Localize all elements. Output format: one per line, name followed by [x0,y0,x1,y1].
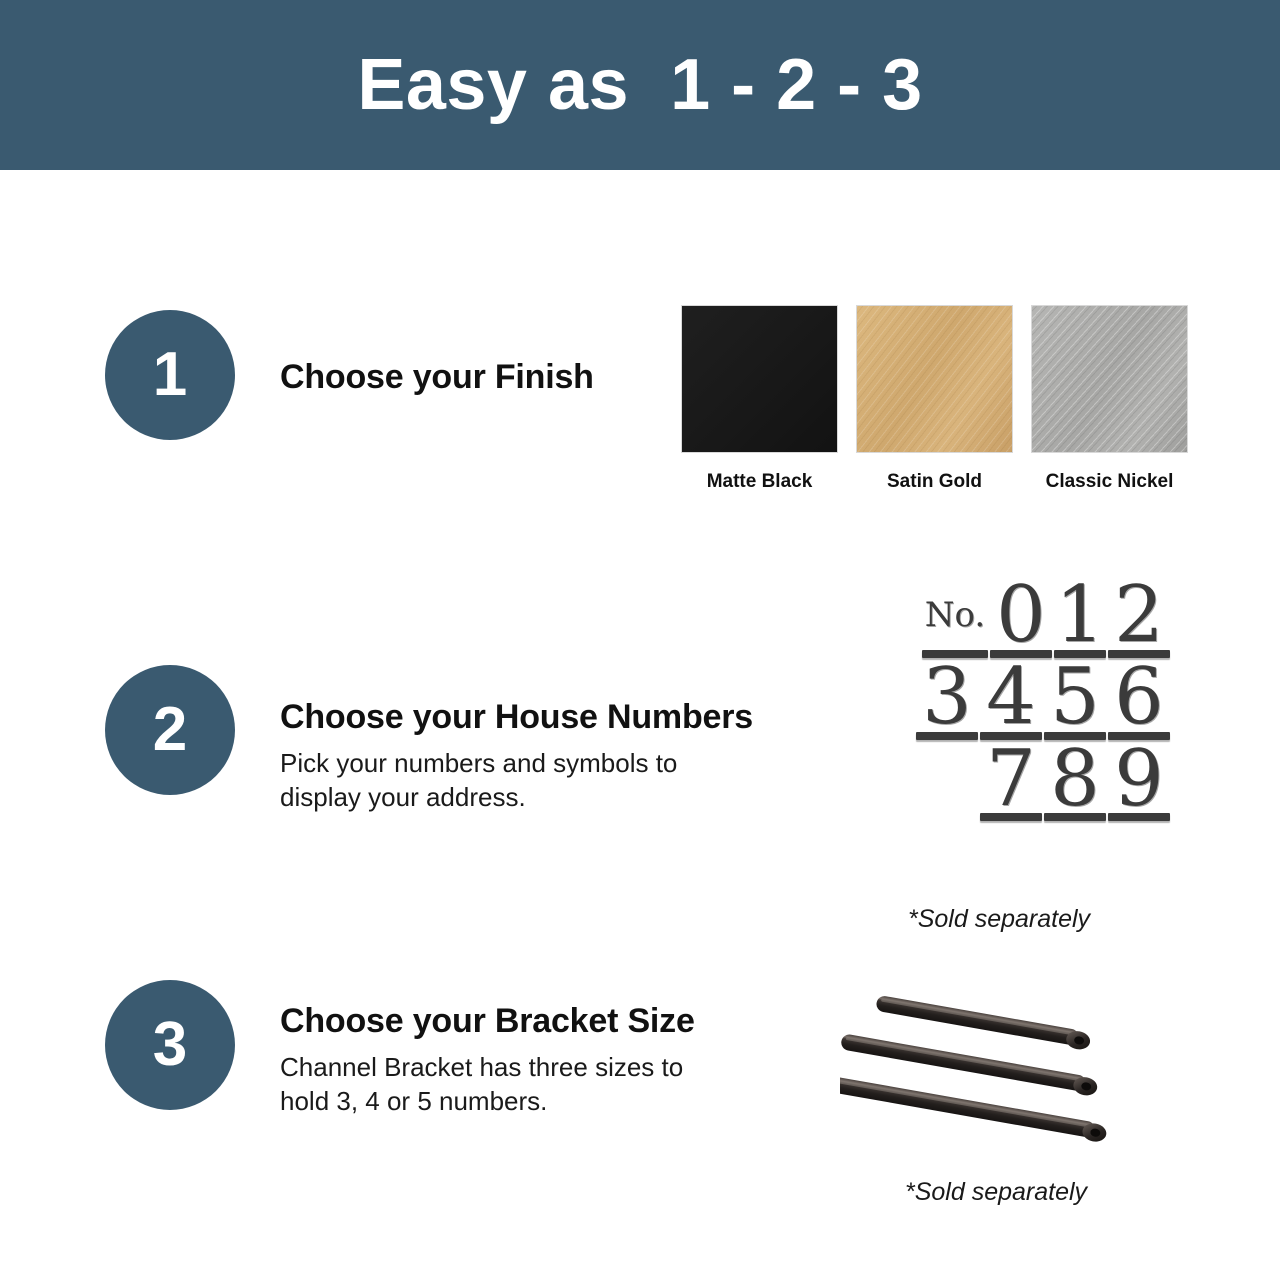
classic-nickel-swatch[interactable] [1031,305,1188,453]
step-2-row: 2 Choose your House Numbers Pick your nu… [0,620,1280,950]
step-1-badge: 1 [105,310,235,440]
number-tile-5: 5 [1044,662,1106,740]
step-2-description-line-2: display your address. [280,781,753,815]
channel-bracket-artwork [840,980,1190,1160]
number-tile-9: 9 [1108,744,1170,822]
number-tile-0: 0 [990,580,1052,658]
step-2-text-block: Choose your House Numbers Pick your numb… [280,698,753,815]
step-1-title: Choose your Finish [280,358,594,397]
finish-option-matte-black[interactable]: Matte Black [681,305,838,493]
number-tile-8: 8 [1044,744,1106,822]
step-1-text-block: Choose your Finish [280,358,594,397]
step-1-row: 1 Choose your Finish Matte Black Satin G… [0,300,1280,500]
step-2-badge: 2 [105,665,235,795]
number-glyph: 0 [990,580,1052,652]
number-glyph: 4 [980,662,1042,734]
number-glyph: 2 [1108,580,1170,652]
step-2-description: Pick your numbers and symbols to display… [280,747,753,815]
satin-gold-swatch[interactable] [856,305,1013,453]
number-glyph: No. [922,580,988,651]
step-3-text-block: Choose your Bracket Size Channel Bracket… [280,1002,695,1119]
step-3-title: Choose your Bracket Size [280,1002,695,1041]
matte-black-swatch[interactable] [681,305,838,453]
infographic-page: Easy as 1 - 2 - 3 1 Choose your Finish M… [0,0,1280,1280]
finish-swatch-group: Matte Black Satin Gold Classic Nickel [681,305,1188,493]
finish-option-classic-nickel[interactable]: Classic Nickel [1031,305,1188,493]
step-3-description-line-2: hold 3, 4 or 5 numbers. [280,1085,695,1119]
matte-black-label: Matte Black [707,471,813,493]
number-glyph: 9 [1108,744,1170,816]
step-2-description-line-1: Pick your numbers and symbols to [280,747,753,781]
number-glyph: 5 [1044,662,1106,734]
number-tile-6: 6 [1108,662,1170,740]
satin-gold-label: Satin Gold [887,471,982,493]
number-tile-4: 4 [980,662,1042,740]
number-tile-2: 2 [1108,580,1170,658]
number-glyph: 7 [980,744,1042,816]
bracket-illustration [840,980,1190,1160]
step-3-footnote: *Sold separately [905,1178,1087,1207]
house-numbers-row-3: 7 8 9 [900,744,1170,822]
number-tile-1: 1 [1054,580,1106,658]
step-3-description: Channel Bracket has three sizes to hold … [280,1051,695,1119]
step-3-description-line-1: Channel Bracket has three sizes to [280,1051,695,1085]
page-title: Easy as 1 - 2 - 3 [357,49,922,121]
finish-option-satin-gold[interactable]: Satin Gold [856,305,1013,493]
number-glyph: 3 [916,662,978,734]
house-numbers-row-2: 3 4 5 6 [900,662,1170,740]
step-3-row: 3 Choose your Bracket Size Channel Brack… [0,960,1280,1230]
step-3-badge: 3 [105,980,235,1110]
number-glyph: 1 [1054,580,1106,652]
number-tile-3: 3 [916,662,978,740]
house-numbers-row-1: No. 0 1 2 [900,580,1170,658]
header-banner: Easy as 1 - 2 - 3 [0,0,1280,170]
step-2-title: Choose your House Numbers [280,698,753,737]
classic-nickel-label: Classic Nickel [1046,471,1174,493]
bracket-short [875,995,1092,1051]
step-2-footnote: *Sold separately [908,905,1090,934]
number-tile-no: No. [922,580,988,657]
number-glyph: 8 [1044,744,1106,816]
number-tile-7: 7 [980,744,1042,822]
number-glyph: 6 [1108,662,1170,734]
house-numbers-artwork: No. 0 1 2 3 [900,580,1170,825]
